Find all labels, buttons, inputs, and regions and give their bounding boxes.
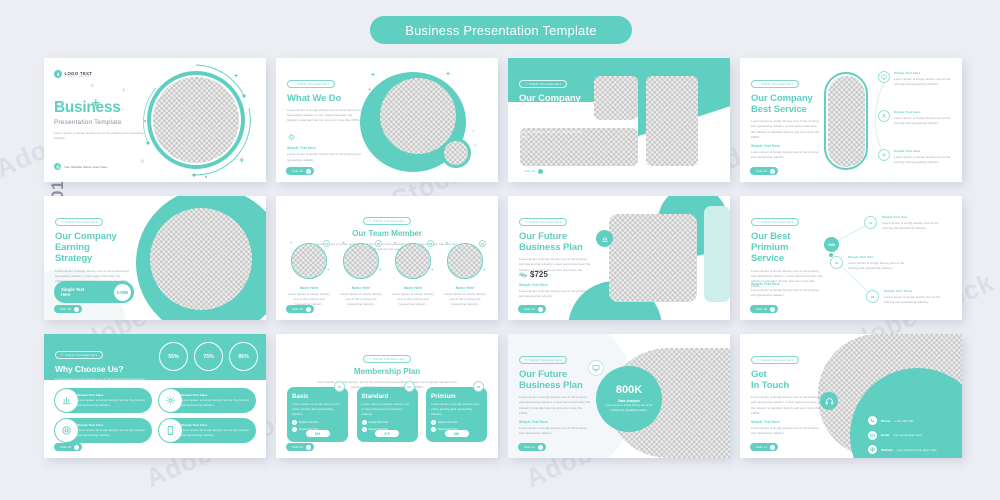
arrow-right-icon (74, 445, 79, 450)
slide-what-we-do[interactable]: + + + + + × × Simple Title Goes Here Wha… (276, 58, 498, 182)
plan-feature: Simple Text One (292, 420, 343, 425)
plan-price: $99 (315, 432, 320, 436)
feature-desc: Lorem Ipsum is simply dummy text of the … (894, 155, 956, 165)
slide-why-choose-us[interactable]: Simple Title Goes Here Why Choose Us? Lo… (44, 334, 266, 458)
slide-nav-label: Slide 06 (292, 308, 303, 311)
plus-decor-icon: + (371, 72, 375, 79)
node-number: 02 (830, 256, 843, 269)
tag-pill: Simple Title Goes Here (363, 355, 411, 363)
plus-decor-icon: + (367, 143, 370, 148)
slide-nav-label: Slide 03 (524, 170, 535, 173)
arrow-right-icon (306, 169, 311, 174)
avatar-image (292, 244, 326, 278)
stat-value: 55% (168, 354, 178, 360)
tag-pill: Simple Title Goes Here (363, 217, 411, 225)
avatar-image (448, 244, 482, 278)
node-title: Simple Text Three (884, 289, 950, 293)
slide-subtitle: Simple Text Here (519, 283, 591, 287)
slide-sub-description: Lorem Ipsum is simply dummy text of the … (519, 426, 591, 436)
stat-ring: 95% (229, 342, 258, 371)
feature-item[interactable]: Simple Text Here Lorem Ipsum is simply d… (878, 110, 956, 126)
tag-pill: Simple Title Goes Here (751, 218, 799, 226)
slide-title: What We Do (287, 93, 362, 104)
member-name: Name Here (391, 286, 435, 290)
stat-value: 800K (616, 385, 642, 396)
card-desc: Lorem Ipsum is simply dummy text of the … (77, 428, 145, 438)
slide-nav-label: Slide 08 (756, 308, 767, 311)
tag-pill: Simple Title Goes Here (55, 218, 103, 226)
slide-subtitle: Simple Text Here (751, 282, 823, 286)
slide-title: Our Team Member (276, 229, 498, 239)
avatar-image (396, 244, 430, 278)
plan-price: $79 (384, 432, 389, 436)
plan-feature-label: Simple Text One (438, 421, 458, 424)
plan-price: $66 (454, 432, 459, 436)
plan-image-placeholder (609, 214, 697, 302)
slide-description: Lorem Ipsum is simply dummy text of the … (519, 119, 591, 139)
plan-desc: Lorem Ipsum is simply dummy text of the … (292, 402, 343, 417)
price-value: $725 (530, 270, 548, 279)
logo[interactable]: LOGO TEXT BUSINESS TEMPLATE (54, 70, 92, 78)
logo-subtext: BUSINESS TEMPLATE (65, 76, 93, 78)
check-icon (362, 420, 367, 425)
card-title: Simple Text Here (181, 393, 249, 397)
slide-title: Our Company Portfolio (519, 93, 591, 115)
slide-nav-button[interactable]: Slide 02 (286, 167, 314, 175)
cover-image-placeholder (153, 77, 239, 163)
card-title: Simple Text Here (77, 393, 145, 397)
cover-subtitle: Presentation Template (54, 119, 149, 126)
slides-grid: + + + + + + × LOGO TEXT BUSINESS TEMPLAT… (44, 58, 964, 458)
dot-decor (205, 176, 207, 178)
plus-decor-icon: + (379, 268, 381, 272)
droplet-icon (54, 70, 62, 78)
avatar (395, 243, 431, 279)
contact-label: Phone (881, 419, 890, 423)
slide-nav-button[interactable]: Slide 10 (286, 443, 314, 451)
contact-item[interactable]: Website your website name given here (868, 445, 937, 454)
plus-decor-icon: + (234, 73, 238, 80)
slide-cover[interactable]: + + + + + + × LOGO TEXT BUSINESS TEMPLAT… (44, 58, 266, 182)
gears-icon (159, 389, 182, 412)
logo-text: LOGO TEXT (65, 71, 93, 76)
arrow-right-icon (538, 445, 543, 450)
slide-data-analysis[interactable]: 800K Data Analysis Lorem Ipsum is simply… (508, 334, 730, 458)
stat-value: 6.99B (114, 284, 131, 301)
member-name: Name Here (287, 286, 331, 290)
feature-card[interactable]: Simple Text Here Lorem Ipsum is simply d… (158, 418, 256, 443)
money-icon (519, 271, 527, 279)
contact-item[interactable]: Email your email given here (868, 431, 937, 440)
cover-description: Lorem Ipsum is simply dummy text of the … (54, 131, 149, 141)
plan-price-button[interactable]: $79 (375, 430, 399, 437)
feature-item[interactable]: Simple Text Here Lorem Ipsum is simply d… (878, 71, 956, 87)
stat-desc: Lorem Ipsum is simply dummy text of the … (602, 404, 656, 412)
check-icon (292, 427, 297, 432)
slide-get-in-touch[interactable]: Simple Title Goes Here Get In Touch Lore… (740, 334, 962, 458)
member-desc: Lorem Ipsum is simply dummy text of the … (443, 292, 487, 307)
plan-name: Basic (292, 393, 343, 400)
tag-pill: Simple Title Goes Here (751, 80, 799, 88)
stat-ring: 75% (194, 342, 223, 371)
member-number: 03 (427, 240, 434, 247)
tag-pill: Simple Title Goes Here (519, 218, 567, 226)
plus-decor-icon: + (431, 268, 433, 272)
phone-icon (868, 416, 877, 425)
plan-number: 01 (334, 381, 345, 392)
feature-item[interactable]: Simple Text Here Lorem Ipsum is simply d… (878, 149, 956, 165)
card-desc: Lorem Ipsum is simply dummy text of the … (181, 428, 249, 438)
bar-chart-icon (55, 389, 78, 412)
check-icon (431, 420, 436, 425)
strategy-image-placeholder (150, 208, 252, 310)
plan-name: Standard (362, 393, 413, 400)
card-title: Simple Text Here (181, 423, 249, 427)
plan-number: 02 (404, 381, 415, 392)
lightbulb-icon (287, 133, 362, 142)
slide-sub-description: Lorem Ipsum is simply dummy text of the … (751, 426, 821, 436)
stats-row: 55% 75% 95% (159, 342, 258, 371)
slide-description: Lorem Ipsum is simply dummy text of the … (55, 377, 150, 387)
slide-nav-label: Slide 11 (524, 446, 535, 449)
feature-title: Simple Text Here (894, 149, 956, 153)
plus-decor-icon: + (239, 156, 244, 165)
contact-value: +123 456 789 (894, 419, 912, 423)
plan-feature: Simple Text One (362, 420, 413, 425)
feature-card[interactable]: Simple Text Here Lorem Ipsum is simply d… (54, 418, 152, 443)
slide-nav-label: Slide 10 (292, 446, 303, 449)
plan-feature: Simple Text One (431, 420, 482, 425)
cover-website[interactable]: Your Website Name Goes Here (54, 163, 107, 170)
arrow-right-icon (770, 307, 775, 312)
slide-nav-button[interactable]: Slide 08 (750, 305, 778, 313)
people-icon (878, 110, 890, 122)
slide-subtitle: Simple Text Here (519, 420, 591, 424)
stat-bubble: 800K Data Analysis Lorem Ipsum is simply… (596, 366, 662, 432)
plan-feature-label: Simple Text One (299, 421, 319, 424)
plan-number: 03 (473, 381, 484, 392)
slide-membership-plan[interactable]: Simple Title Goes Here Membership Plan L… (276, 334, 498, 458)
feature-desc: Lorem Ipsum is simply dummy text of the … (894, 116, 956, 126)
portfolio-image-1 (594, 76, 638, 120)
check-icon (431, 427, 436, 432)
card-title: Simple Text Here (77, 423, 145, 427)
avatar (447, 243, 483, 279)
plus-decor-icon: + (327, 268, 329, 272)
node-number: 01 (864, 216, 877, 229)
slide-future-business-plan[interactable]: Simple Title Goes Here Our Future Busine… (508, 196, 730, 320)
bar-chart-icon (601, 235, 609, 243)
slide-nav-button[interactable]: Slide 06 (286, 305, 314, 313)
member-number: 01 (323, 240, 330, 247)
slide-title: Our Company Earning Strategy (55, 231, 129, 265)
slide-nav-label: Slide 12 (756, 446, 767, 449)
tag-pill: Simple Title Goes Here (751, 356, 799, 364)
x-decor-icon: × (474, 144, 477, 149)
hub-node: 2020 (824, 237, 839, 252)
team-member-card[interactable]: 02 + + Name Here Lorem Ipsum is simply d… (339, 243, 383, 307)
tag-pill: Simple Title Goes Here (519, 80, 567, 88)
support-badge (820, 392, 838, 410)
avatar-image (344, 244, 378, 278)
slide-nav-label: Slide 04 (756, 170, 767, 173)
headset-icon (825, 397, 834, 406)
slide-description: Lorem Ipsum is simply dummy text of the … (287, 108, 362, 123)
node-title: Simple Text One (882, 215, 948, 219)
slide-subtitle: Simple Text Here (751, 144, 821, 148)
node-item[interactable]: Simple Text Two Lorem Ipsum is simply du… (848, 255, 914, 271)
slide-nav-label: Slide 09 (60, 446, 71, 449)
chart-badge (596, 230, 613, 247)
avatar (343, 243, 379, 279)
node-desc: Lorem Ipsum is simply dummy text of the … (884, 295, 950, 305)
arrow-right-icon (306, 445, 311, 450)
contact-value: your email given here (893, 433, 922, 437)
mint-bar (704, 206, 730, 302)
contact-item[interactable]: Phone +123 456 789 (868, 416, 937, 425)
contact-label: Website (881, 448, 893, 452)
slide-best-service[interactable]: Simple Title Goes Here Our Company Best … (740, 58, 962, 182)
cover-title: Business (54, 100, 149, 116)
arrow-right-icon (538, 169, 543, 174)
plus-decor-icon: + (342, 241, 344, 245)
feature-card[interactable]: Simple Text Here Lorem Ipsum is simply d… (54, 388, 152, 413)
slide-nav-button[interactable]: Slide 11 (518, 443, 546, 451)
slide-nav-button[interactable]: Slide 12 (750, 443, 778, 451)
slide-nav-button[interactable]: Slide 03 (518, 167, 546, 175)
plus-decor-icon: + (483, 268, 485, 272)
avatar (291, 243, 327, 279)
slide-title: Our Best Primium Service (751, 231, 823, 265)
slide-company-portfolio[interactable]: Simple Title Goes Here Our Company Portf… (508, 58, 730, 182)
slide-title: Our Future Business Plan (519, 231, 591, 253)
slide-description: Lorem Ipsum is simply dummy text of the … (519, 395, 591, 415)
stat-ring: 55% (159, 342, 188, 371)
slide-nav-label: Slide 02 (292, 170, 303, 173)
gears-icon (878, 149, 890, 161)
slide-title: Membership Plan (276, 367, 498, 377)
plus-decor-icon: + (90, 82, 95, 90)
slide-title: Our Future Business Plan (519, 369, 591, 391)
slide-nav-button[interactable]: Slide 05 (54, 305, 82, 313)
member-name: Name Here (339, 286, 383, 290)
wwd-image-placeholder-small (444, 141, 468, 165)
slide-sub-description: Lorem Ipsum is simply dummy text of the … (751, 288, 823, 298)
check-icon (362, 427, 367, 432)
plus-decor-icon: + (446, 241, 448, 245)
page-stage: Adobe Stock Adobe Stock Adobe Stock Adob… (0, 0, 1000, 500)
plan-card[interactable]: 03 Primium Lorem Ipsum is simply dummy t… (426, 387, 487, 442)
node-title: Simple Text Two (848, 255, 914, 259)
node-desc: Lorem Ipsum is simply dummy text of the … (882, 221, 948, 231)
arrow-right-icon (538, 307, 543, 312)
feature-desc: Lorem Ipsum is simply dummy text of the … (894, 77, 956, 87)
plus-decor-icon: + (394, 241, 396, 245)
plus-decor-icon: + (122, 88, 126, 94)
plus-decor-icon: + (472, 130, 475, 135)
slide-nav-button[interactable]: Slide 09 (54, 443, 82, 451)
arrow-right-icon (770, 445, 775, 450)
slide-nav-button[interactable]: Slide 07 (518, 305, 546, 313)
plus-decor-icon: + (446, 71, 450, 78)
plan-card[interactable]: 02 Standard Lorem Ipsum is simply dummy … (357, 387, 418, 442)
hub-label: 2020 (828, 243, 835, 247)
slide-subtitle: Simple Text Here (751, 420, 821, 424)
member-desc: Lorem Ipsum is simply dummy text of the … (391, 292, 435, 307)
slide-nav-label: Slide 07 (524, 308, 535, 311)
plan-desc: Lorem Ipsum is simply dummy text of the … (431, 402, 482, 417)
slide-subtitle: Simple Text Here (287, 146, 362, 150)
plan-desc: Lorem Ipsum is simply dummy text of the … (362, 402, 413, 417)
slide-title: Why Choose Us? (55, 364, 150, 374)
plus-decor-icon: + (290, 241, 292, 245)
presentation-icon (878, 71, 890, 83)
arrow-right-icon (770, 169, 775, 174)
contact-value: your website name given here (897, 448, 937, 452)
slide-team-member[interactable]: Simple Title Goes Here Our Team Member L… (276, 196, 498, 320)
slide-nav-label: Slide 05 (60, 308, 71, 311)
slide-sub-description: Lorem Ipsum is simply dummy text of the … (519, 289, 591, 299)
feature-title: Simple Text Here (894, 71, 956, 75)
stat-chip[interactable]: Simple Text Here 6.99B (54, 281, 134, 303)
slide-description: Lorem Ipsum is simply dummy text of the … (751, 119, 821, 139)
globe-icon (868, 445, 877, 454)
cover-website-label: Your Website Name Goes Here (64, 165, 107, 169)
slide-sub-description: Lorem Ipsum is simply dummy text of the … (287, 152, 362, 162)
slide-title: Get In Touch (751, 369, 821, 391)
card-desc: Lorem Ipsum is simply dummy text of the … (77, 398, 145, 408)
plus-decor-icon: + (368, 88, 371, 93)
mobile-icon (159, 419, 182, 442)
member-name: Name Here (443, 286, 487, 290)
team-member-card[interactable]: 03 + + Name Here Lorem Ipsum is simply d… (391, 243, 435, 307)
target-icon (55, 419, 78, 442)
plan-price-button[interactable]: $66 (445, 430, 469, 437)
x-decor-icon: × (376, 158, 380, 164)
node-item[interactable]: Simple Text One Lorem Ipsum is simply du… (882, 215, 948, 231)
globe-icon (54, 163, 61, 170)
node-item[interactable]: Simple Text Three Lorem Ipsum is simply … (884, 289, 950, 305)
member-desc: Lorem Ipsum is simply dummy text of the … (339, 292, 383, 307)
stat-label: Data Analysis (618, 399, 640, 403)
mail-icon (868, 431, 877, 440)
plan-feature-label: Simple Text One (369, 421, 389, 424)
contact-label: Email (881, 433, 889, 437)
arrow-right-icon (306, 307, 311, 312)
stat-value: 95% (238, 354, 248, 360)
plan-price-button[interactable]: $99 (306, 430, 330, 437)
x-decor-icon: × (140, 158, 145, 166)
stat-label: Simple Text Here (61, 287, 84, 298)
team-member-card[interactable]: 04 + + Name Here Lorem Ipsum is simply d… (443, 243, 487, 307)
feature-card[interactable]: Simple Text Here Lorem Ipsum is simply d… (158, 388, 256, 413)
member-number: 04 (479, 240, 486, 247)
slide-earning-strategy[interactable]: Simple Title Goes Here Our Company Earni… (44, 196, 266, 320)
tag-pill: Simple Title Goes Here (55, 351, 103, 359)
tag-pill: Simple Title Goes Here (519, 356, 567, 364)
node-number: 03 (866, 290, 879, 303)
feature-title: Simple Text Here (894, 110, 956, 114)
plan-name: Primium (431, 393, 482, 400)
slide-description: Lorem Ipsum is simply dummy text of the … (751, 395, 821, 415)
contact-list: Phone +123 456 789 Email your email give… (868, 416, 937, 454)
page-title: Business Presentation Template (405, 23, 596, 38)
header-title-pill: Business Presentation Template (370, 16, 632, 44)
arrow-right-icon (74, 307, 79, 312)
check-icon (292, 420, 297, 425)
team-member-card[interactable]: 01 + + Name Here Lorem Ipsum is simply d… (287, 243, 331, 307)
slide-nav-button[interactable]: Slide 04 (750, 167, 778, 175)
slide-premium-service[interactable]: 2020 01 02 03 Simple Title Goes Here Our… (740, 196, 962, 320)
member-number: 02 (375, 240, 382, 247)
tag-pill: Simple Title Goes Here (287, 80, 335, 88)
plan-card[interactable]: 01 Basic Lorem Ipsum is simply dummy tex… (287, 387, 348, 442)
portfolio-image-2 (646, 76, 698, 166)
stat-value: 75% (203, 354, 213, 360)
node-desc: Lorem Ipsum is simply dummy text of the … (848, 261, 914, 271)
card-desc: Lorem Ipsum is simply dummy text of the … (181, 398, 249, 408)
slide-sub-description: Lorem Ipsum is simply dummy text of the … (751, 150, 821, 160)
slide-title: Our Company Best Service (751, 93, 821, 115)
